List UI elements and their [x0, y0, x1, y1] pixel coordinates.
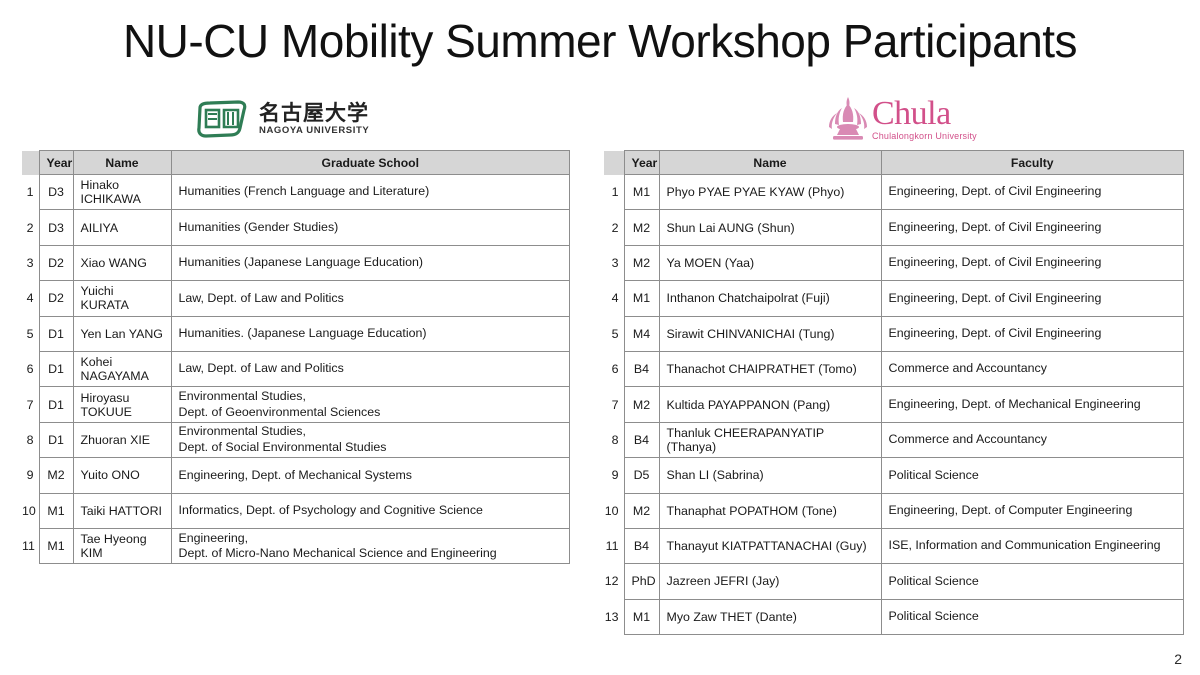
row-number: 1 [604, 175, 624, 210]
table-row: 13M1Myo Zaw THET (Dante)Political Scienc… [604, 599, 1184, 634]
cell-name: Shan LI (Sabrina) [659, 458, 881, 493]
cell-faculty: Engineering, Dept. of Civil Engineering [881, 281, 1184, 316]
cell-year: B4 [624, 422, 659, 457]
cell-text-line: Law, Dept. of Law and Politics [179, 291, 563, 307]
cell-faculty: Engineering, Dept. of Civil Engineering [881, 210, 1184, 245]
table-row: 1M1Phyo PYAE PYAE KYAW (Phyo)Engineering… [604, 175, 1184, 210]
cell-text-line: Engineering, Dept. of Civil Engineering [889, 326, 1177, 342]
cell-name: Myo Zaw THET (Dante) [659, 599, 881, 634]
cell-text-line: ISE, Information and Communication Engin… [889, 538, 1177, 554]
row-number: 2 [604, 210, 624, 245]
chula-logo-subtitle: Chulalongkorn University [872, 132, 977, 141]
chula-participants-table-block: Year Name Faculty 1M1Phyo PYAE PYAE KYAW… [604, 150, 1184, 635]
table-row: 3D2Xiao WANGHumanities (Japanese Languag… [22, 245, 570, 280]
nagoya-logo-en-name: NAGOYA UNIVERSITY [259, 126, 369, 136]
cell-faculty: Engineering, Dept. of Civil Engineering [881, 245, 1184, 280]
table-row: 6B4Thanachot CHAIPRATHET (Tomo)Commerce … [604, 351, 1184, 386]
chula-logo-word: Chula [872, 97, 977, 131]
cell-text-line: Informatics, Dept. of Psychology and Cog… [179, 503, 563, 519]
cell-year: D3 [39, 210, 73, 245]
row-number: 3 [22, 245, 39, 280]
row-number: 2 [22, 210, 39, 245]
cell-year: M1 [39, 493, 73, 528]
table-row: 6D1Kohei NAGAYAMALaw, Dept. of Law and P… [22, 351, 570, 386]
cell-text-line: Dept. of Social Environmental Studies [179, 440, 563, 456]
row-number: 10 [604, 493, 624, 528]
cell-text-line: Humanities (Gender Studies) [179, 220, 563, 236]
cell-name: Yuito ONO [73, 458, 171, 493]
cell-year: M1 [624, 599, 659, 634]
cell-name: Jazreen JEFRI (Jay) [659, 564, 881, 599]
table-row: 11B4Thanayut KIATPATTANACHAI (Guy)ISE, I… [604, 528, 1184, 563]
chulalongkorn-university-logo: Chula Chulalongkorn University [828, 96, 977, 142]
row-number: 1 [22, 175, 39, 210]
table-row: 2D3AILIYAHumanities (Gender Studies) [22, 210, 570, 245]
row-number: 5 [604, 316, 624, 351]
cell-school: Humanities (French Language and Literatu… [171, 175, 570, 210]
page-title: NU-CU Mobility Summer Workshop Participa… [0, 14, 1200, 68]
cell-school: Environmental Studies,Dept. of Social En… [171, 422, 570, 457]
table-row: 9M2Yuito ONOEngineering, Dept. of Mechan… [22, 458, 570, 493]
column-header-name: Name [659, 151, 881, 175]
cell-name: Thanayut KIATPATTANACHAI (Guy) [659, 528, 881, 563]
chula-logo-icon [828, 96, 868, 142]
cell-school: Humanities. (Japanese Language Education… [171, 316, 570, 351]
cell-text-line: Humanities. (Japanese Language Education… [179, 326, 563, 342]
cell-text-line: Humanities (Japanese Language Education) [179, 255, 563, 271]
cell-name: Kultida PAYAPPANON (Pang) [659, 387, 881, 422]
cell-year: B4 [624, 351, 659, 386]
cell-school: Humanities (Japanese Language Education) [171, 245, 570, 280]
table-header-row: Year Name Graduate School [22, 151, 570, 175]
nagoya-participants-table: Year Name Graduate School 1D3Hinako ICHI… [22, 150, 570, 564]
cell-school: Informatics, Dept. of Psychology and Cog… [171, 493, 570, 528]
cell-year: M2 [624, 493, 659, 528]
rownum-header [22, 151, 39, 175]
nagoya-logo-icon [196, 100, 250, 138]
row-number: 6 [22, 351, 39, 386]
cell-name: Taiki HATTORI [73, 493, 171, 528]
cell-name: Inthanon Chatchaipolrat (Fuji) [659, 281, 881, 316]
cell-text-line: Political Science [889, 574, 1177, 590]
table-row: 2M2Shun Lai AUNG (Shun)Engineering, Dept… [604, 210, 1184, 245]
table-row: 10M2Thanaphat POPATHOM (Tone)Engineering… [604, 493, 1184, 528]
table-row: 7M2Kultida PAYAPPANON (Pang)Engineering,… [604, 387, 1184, 422]
cell-faculty: Engineering, Dept. of Civil Engineering [881, 175, 1184, 210]
cell-year: M1 [624, 281, 659, 316]
cell-year: M4 [624, 316, 659, 351]
cell-text-line: Commerce and Accountancy [889, 361, 1177, 377]
cell-text-line: Engineering, Dept. of Civil Engineering [889, 255, 1177, 271]
cell-text-line: Commerce and Accountancy [889, 432, 1177, 448]
table-row: 8B4Thanluk CHEERAPANYATIP (Thanya)Commer… [604, 422, 1184, 457]
table-row: 12PhDJazreen JEFRI (Jay)Political Scienc… [604, 564, 1184, 599]
cell-name: Shun Lai AUNG (Shun) [659, 210, 881, 245]
cell-year: D1 [39, 422, 73, 457]
cell-name: Yen Lan YANG [73, 316, 171, 351]
row-number: 6 [604, 351, 624, 386]
table-row: 7D1Hiroyasu TOKUUEEnvironmental Studies,… [22, 387, 570, 422]
cell-school: Engineering,Dept. of Micro-Nano Mechanic… [171, 528, 570, 563]
cell-faculty: Commerce and Accountancy [881, 422, 1184, 457]
cell-text-line: Engineering, Dept. of Computer Engineeri… [889, 503, 1177, 519]
cell-faculty: Political Science [881, 458, 1184, 493]
cell-year: D2 [39, 245, 73, 280]
chula-table-body: 1M1Phyo PYAE PYAE KYAW (Phyo)Engineering… [604, 175, 1184, 635]
table-row: 4D2Yuichi KURATALaw, Dept. of Law and Po… [22, 281, 570, 316]
cell-year: M2 [624, 210, 659, 245]
cell-text-line: Engineering, Dept. of Civil Engineering [889, 184, 1177, 200]
cell-year: M2 [624, 245, 659, 280]
cell-name: Thanachot CHAIPRATHET (Tomo) [659, 351, 881, 386]
row-number: 9 [22, 458, 39, 493]
cell-year: M1 [624, 175, 659, 210]
cell-text-line: Political Science [889, 609, 1177, 625]
cell-faculty: ISE, Information and Communication Engin… [881, 528, 1184, 563]
column-header-faculty: Faculty [881, 151, 1184, 175]
cell-year: M2 [39, 458, 73, 493]
chula-participants-table: Year Name Faculty 1M1Phyo PYAE PYAE KYAW… [604, 150, 1184, 635]
row-number: 7 [22, 387, 39, 422]
cell-school: Engineering, Dept. of Mechanical Systems [171, 458, 570, 493]
table-row: 3M2Ya MOEN (Yaa)Engineering, Dept. of Ci… [604, 245, 1184, 280]
row-number: 4 [604, 281, 624, 316]
row-number: 12 [604, 564, 624, 599]
cell-faculty: Political Science [881, 599, 1184, 634]
cell-year: PhD [624, 564, 659, 599]
page-number: 2 [1174, 651, 1182, 667]
column-header-school: Graduate School [171, 151, 570, 175]
table-row: 5M4Sirawit CHINVANICHAI (Tung)Engineerin… [604, 316, 1184, 351]
cell-text-line: Engineering, Dept. of Mechanical Systems [179, 468, 563, 484]
table-row: 10M1Taiki HATTORIInformatics, Dept. of P… [22, 493, 570, 528]
table-header-row: Year Name Faculty [604, 151, 1184, 175]
cell-name: Tae Hyeong KIM [73, 528, 171, 563]
row-number: 4 [22, 281, 39, 316]
cell-name: Thanluk CHEERAPANYATIP (Thanya) [659, 422, 881, 457]
cell-name: Kohei NAGAYAMA [73, 351, 171, 386]
column-header-name: Name [73, 151, 171, 175]
row-number: 3 [604, 245, 624, 280]
cell-school: Law, Dept. of Law and Politics [171, 281, 570, 316]
nagoya-table-body: 1D3Hinako ICHIKAWAHumanities (French Lan… [22, 175, 570, 564]
row-number: 11 [22, 528, 39, 563]
cell-text-line: Environmental Studies, [179, 389, 563, 405]
cell-name: AILIYA [73, 210, 171, 245]
row-number: 9 [604, 458, 624, 493]
row-number: 13 [604, 599, 624, 634]
cell-year: D1 [39, 351, 73, 386]
cell-school: Humanities (Gender Studies) [171, 210, 570, 245]
cell-text-line: Engineering, Dept. of Civil Engineering [889, 220, 1177, 236]
cell-text-line: Law, Dept. of Law and Politics [179, 361, 563, 377]
cell-text-line: Engineering, [179, 531, 563, 547]
nagoya-university-logo: 名古屋大学 NAGOYA UNIVERSITY [196, 100, 369, 138]
cell-year: M2 [624, 387, 659, 422]
table-row: 8D1Zhuoran XIEEnvironmental Studies,Dept… [22, 422, 570, 457]
nagoya-logo-jp-name: 名古屋大学 [259, 103, 369, 124]
cell-text-line: Political Science [889, 468, 1177, 484]
cell-faculty: Engineering, Dept. of Computer Engineeri… [881, 493, 1184, 528]
cell-name: Hiroyasu TOKUUE [73, 387, 171, 422]
cell-faculty: Commerce and Accountancy [881, 351, 1184, 386]
rownum-header [604, 151, 624, 175]
cell-year: D2 [39, 281, 73, 316]
cell-year: D1 [39, 387, 73, 422]
cell-year: M1 [39, 528, 73, 563]
cell-school: Law, Dept. of Law and Politics [171, 351, 570, 386]
cell-school: Environmental Studies,Dept. of Geoenviro… [171, 387, 570, 422]
cell-year: D1 [39, 316, 73, 351]
cell-text-line: Engineering, Dept. of Mechanical Enginee… [889, 397, 1177, 413]
cell-text-line: Engineering, Dept. of Civil Engineering [889, 291, 1177, 307]
cell-name: Yuichi KURATA [73, 281, 171, 316]
cell-faculty: Engineering, Dept. of Civil Engineering [881, 316, 1184, 351]
row-number: 11 [604, 528, 624, 563]
table-row: 11M1Tae Hyeong KIMEngineering,Dept. of M… [22, 528, 570, 563]
cell-faculty: Engineering, Dept. of Mechanical Enginee… [881, 387, 1184, 422]
cell-text-line: Humanities (French Language and Literatu… [179, 184, 563, 200]
cell-text-line: Dept. of Micro-Nano Mechanical Science a… [179, 546, 563, 562]
row-number: 7 [604, 387, 624, 422]
row-number: 8 [604, 422, 624, 457]
cell-text-line: Environmental Studies, [179, 424, 563, 440]
cell-name: Thanaphat POPATHOM (Tone) [659, 493, 881, 528]
column-header-year: Year [39, 151, 73, 175]
row-number: 5 [22, 316, 39, 351]
column-header-year: Year [624, 151, 659, 175]
cell-name: Phyo PYAE PYAE KYAW (Phyo) [659, 175, 881, 210]
cell-name: Ya MOEN (Yaa) [659, 245, 881, 280]
cell-name: Zhuoran XIE [73, 422, 171, 457]
nagoya-participants-table-block: Year Name Graduate School 1D3Hinako ICHI… [22, 150, 570, 564]
row-number: 8 [22, 422, 39, 457]
table-row: 1D3Hinako ICHIKAWAHumanities (French Lan… [22, 175, 570, 210]
cell-year: D3 [39, 175, 73, 210]
cell-year: B4 [624, 528, 659, 563]
table-row: 9D5Shan LI (Sabrina)Political Science [604, 458, 1184, 493]
cell-name: Xiao WANG [73, 245, 171, 280]
cell-name: Hinako ICHIKAWA [73, 175, 171, 210]
cell-year: D5 [624, 458, 659, 493]
table-row: 5D1Yen Lan YANGHumanities. (Japanese Lan… [22, 316, 570, 351]
table-row: 4M1Inthanon Chatchaipolrat (Fuji)Enginee… [604, 281, 1184, 316]
cell-faculty: Political Science [881, 564, 1184, 599]
row-number: 10 [22, 493, 39, 528]
cell-text-line: Dept. of Geoenvironmental Sciences [179, 405, 563, 421]
cell-name: Sirawit CHINVANICHAI (Tung) [659, 316, 881, 351]
